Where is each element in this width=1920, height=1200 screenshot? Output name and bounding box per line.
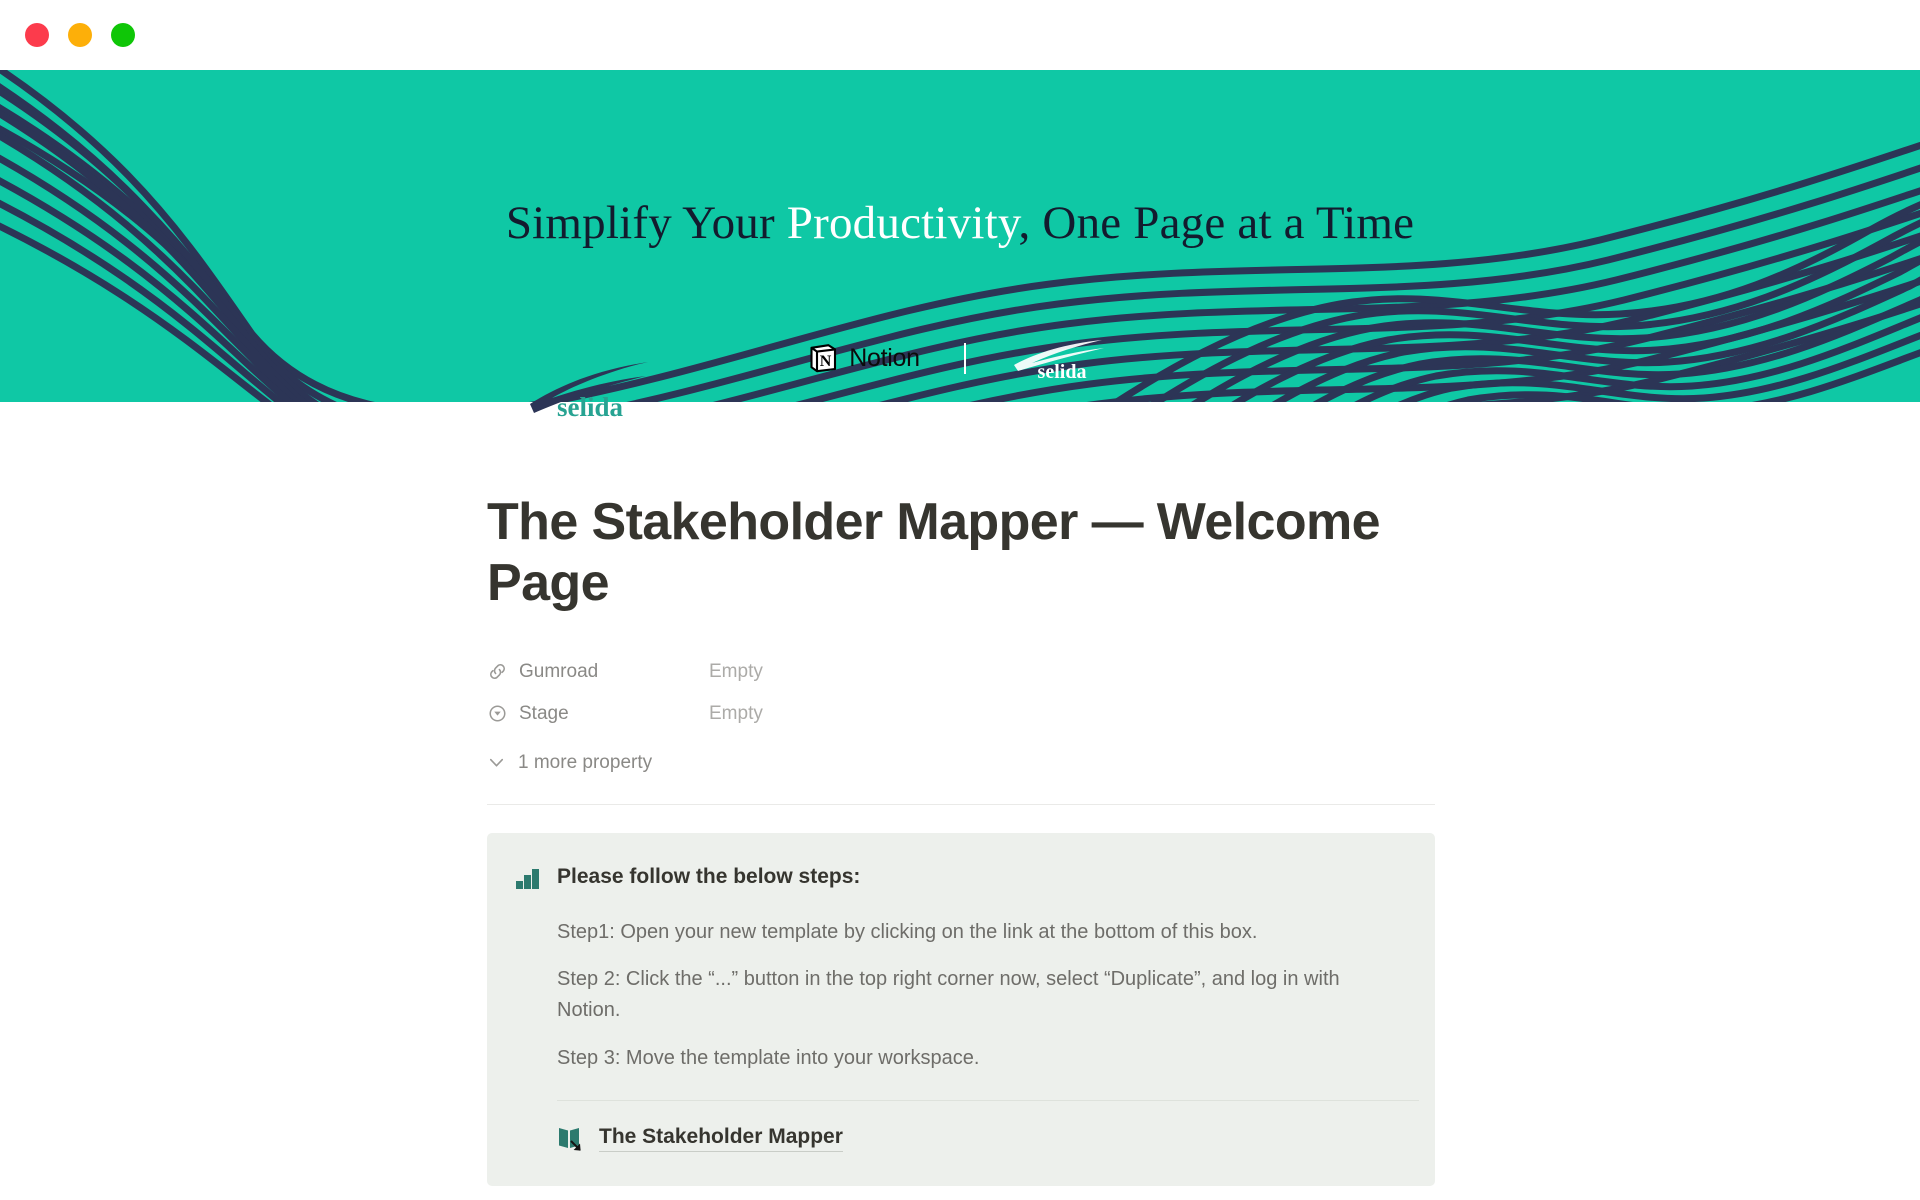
property-name: Gumroad (519, 661, 598, 683)
minimize-window-button[interactable] (68, 23, 92, 47)
property-name: Stage (519, 703, 569, 725)
headline-prefix: Simplify Your (506, 197, 787, 249)
callout-step-1: Step1: Open your new template by clickin… (557, 917, 1401, 948)
link-icon (487, 661, 508, 682)
selida-wordmark: selida (557, 392, 624, 420)
logo-divider (964, 343, 966, 374)
callout-title: Please follow the below steps: (557, 863, 860, 891)
property-label-gumroad[interactable]: Gumroad (487, 661, 709, 683)
notion-lockup: N Notion (806, 341, 919, 375)
headline-suffix: , One Page at a Time (1019, 197, 1415, 249)
chevron-down-icon (487, 753, 506, 772)
close-window-button[interactable] (25, 23, 49, 47)
notion-wordmark: Notion (849, 344, 919, 373)
headline-accent: Productivity (787, 197, 1019, 249)
property-label-stage[interactable]: Stage (487, 703, 709, 725)
steps-callout[interactable]: Please follow the below steps: Step1: Op… (487, 833, 1435, 1186)
callout-step-3: Step 3: Move the template into your work… (557, 1043, 1401, 1074)
svg-text:N: N (820, 353, 832, 370)
content-divider (487, 804, 1435, 805)
property-value-stage[interactable]: Empty (709, 703, 763, 725)
page-content: The Stakeholder Mapper — Welcome Page Gu… (0, 402, 1920, 1186)
page-cover-banner[interactable]: Simplify Your Productivity, One Page at … (0, 70, 1920, 402)
cover-logo-row: N Notion selida (0, 335, 1920, 381)
more-properties-label: 1 more property (518, 752, 652, 774)
bar-chart-icon (515, 865, 541, 891)
callout-link-row[interactable]: The Stakeholder Mapper (557, 1125, 1401, 1152)
page-properties: Gumroad Empty Stage Empty 1 more (487, 651, 1441, 782)
page-icon[interactable]: selida (524, 358, 656, 420)
maximize-window-button[interactable] (111, 23, 135, 47)
callout-header: Please follow the below steps: (515, 863, 1401, 891)
open-book-icon (557, 1125, 585, 1151)
callout-separator (557, 1100, 1419, 1101)
property-row-gumroad[interactable]: Gumroad Empty (487, 651, 1441, 693)
selida-logo-white: selida (1010, 335, 1114, 381)
window-title-bar (0, 0, 1920, 70)
callout-steps-list: Step1: Open your new template by clickin… (515, 917, 1401, 1074)
more-properties-toggle[interactable]: 1 more property (487, 744, 1441, 782)
callout-step-2: Step 2: Click the “...” button in the to… (557, 964, 1401, 1026)
svg-text:selida: selida (1037, 361, 1086, 381)
page-title[interactable]: The Stakeholder Mapper — Welcome Page (487, 492, 1417, 615)
selida-logo-icon: selida (524, 358, 656, 420)
cover-headline: Simplify Your Productivity, One Page at … (0, 70, 1920, 250)
select-icon (487, 703, 508, 724)
notion-icon: N (806, 341, 840, 375)
property-row-stage[interactable]: Stage Empty (487, 693, 1441, 735)
window-controls (25, 23, 135, 47)
stakeholder-mapper-link[interactable]: The Stakeholder Mapper (599, 1125, 843, 1152)
property-value-gumroad[interactable]: Empty (709, 661, 763, 683)
